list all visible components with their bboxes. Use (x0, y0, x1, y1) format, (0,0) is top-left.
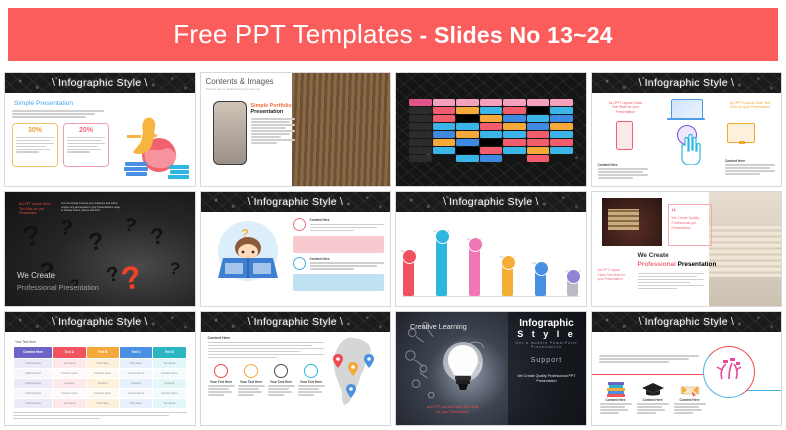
slide-12-icon-col-1: Content Here (600, 382, 632, 415)
slash-left-icon: \ (636, 77, 645, 89)
slide-thumbnail-12[interactable]: \ Infographic Style \ We Create Quality … (591, 311, 783, 426)
slash-right-icon: \ (728, 316, 737, 328)
slide-5-headline-2: Professional Presentation (17, 283, 99, 292)
smiley-icon (244, 364, 258, 378)
slide-thumbnail-grid: \ Infographic Style \ Simple Presentatio… (4, 72, 782, 426)
slash-left-icon: \ (245, 316, 254, 328)
map-pin-icon (364, 354, 374, 368)
monitor-icon (727, 123, 755, 143)
image-icon (304, 364, 318, 378)
table-row: Add Content Text Here Text Here Text Her… (14, 399, 186, 408)
cell: Content (120, 379, 152, 388)
stop-icon (214, 364, 228, 378)
table-header-3: Text B (87, 347, 119, 358)
cell: Text Here (53, 359, 85, 368)
slide-3-canvas: Infographic Style (396, 73, 586, 186)
cell: Content Here (53, 369, 85, 378)
page-banner: Free PPT Templates - Slides No 13~24 (8, 8, 778, 61)
slide-7-columns: Content Here Content Here Content Here C… (402, 216, 580, 295)
books-icon (600, 382, 632, 398)
slide-9-header-title: Infographic Style (58, 316, 141, 328)
slide-10-col-title-3: Your Text Here (268, 380, 295, 384)
cell: Text Here (120, 359, 152, 368)
slide-thumbnail-6[interactable]: \ Infographic Style \ ? (200, 191, 392, 306)
library-photo (292, 73, 390, 186)
cell: Add Content (14, 379, 52, 388)
watch-bar-4 (502, 260, 513, 296)
slide-4-header-title: Infographic Style (645, 77, 728, 89)
watch-bar-1 (403, 254, 414, 296)
exclamation-icon (274, 364, 288, 378)
slide-11-headline: Creative Learning (410, 322, 467, 331)
slide-2-canvas: Contents & Images This text can be repla… (201, 73, 391, 186)
slide-8-canvas: “ We Create Quality Professional ppt Pre… (592, 192, 782, 305)
slide-10-header: \ Infographic Style \ (201, 312, 391, 332)
slide-10-intro: Content Here (208, 336, 324, 360)
slide-12-ring (703, 346, 755, 398)
slide-7-col-5: Content Here (534, 262, 547, 295)
watch-bar-5 (535, 266, 546, 296)
slide-10-canvas: \ Infographic Style \ Content Here Your … (201, 312, 391, 425)
slide-9-body: Your Text Here Content Here Text A Text … (5, 332, 195, 425)
person-on-books-photo (709, 192, 781, 305)
target-icon (293, 257, 306, 270)
slide-10-col-title-2: Your Text Here (238, 380, 265, 384)
slide-thumbnail-1[interactable]: \ Infographic Style \ Simple Presentatio… (4, 72, 196, 187)
graduation-cap-icon (637, 382, 669, 398)
slide-5-canvas: ? ? ? ? ? ? ? ? ? ? ALLPPT Layout Clean … (5, 192, 195, 305)
banner-title-sub: Slides No 13~24 (434, 22, 613, 48)
slash-right-icon: \ (337, 316, 346, 328)
slide-10-header-title: Infographic Style (254, 316, 337, 328)
stat-box-1: 30% (12, 123, 58, 167)
slide-7-col-6: Content Here (566, 270, 579, 295)
slide-9-header: \ Infographic Style \ (5, 312, 195, 332)
slide-12-icon-title-1: Content Here (600, 398, 632, 402)
slide-6-item-title-1: Content Here (310, 218, 385, 222)
stat-caption-1 (16, 137, 54, 154)
watch-face-icon-1 (402, 249, 417, 264)
child-reading-book-illustration: ? (211, 218, 285, 284)
diploma-icon (674, 382, 706, 398)
smartphone-icon (616, 121, 633, 150)
slide-2-callout: Simple Portfolio Presentation (251, 103, 295, 145)
svg-text:?: ? (20, 219, 44, 254)
slide-6-item-1: Content Here (293, 218, 385, 232)
cell: Text Here (120, 399, 152, 408)
slide-12-icons: Content Here Content Here (600, 382, 706, 415)
laptop-base-icon (667, 118, 705, 120)
page-root: Free PPT Templates - Slides No 13~24 \ I… (0, 0, 786, 430)
slide-11-red-note: ALLPPT Layout Clean Text Slide for your … (426, 405, 480, 415)
slide-10-col-title-1: Your Text Here (208, 380, 235, 384)
slash-right-icon: \ (141, 316, 150, 328)
watch-face-icon-4 (501, 255, 516, 270)
slide-10-col-title-4: Your Text Here (298, 380, 325, 384)
slide-5-red-note: ALLPPT Layout Clean Text Slide for your … (19, 202, 53, 215)
slide-thumbnail-5[interactable]: ? ? ? ? ? ? ? ? ? ? ALLPPT Layout Clean … (4, 191, 196, 306)
table-row: Add Content Content Here Content Here Co… (14, 389, 186, 398)
slide-thumbnail-4[interactable]: \ Infographic Style \ ALLPPT Layout Clea… (591, 72, 783, 187)
slide-9-caption: Your Text Here (15, 340, 187, 344)
slide-12-icon-title-3: Content Here (674, 398, 706, 402)
slide-11-panel-title-1: Infographic (508, 318, 586, 329)
cell: Add Content (14, 359, 52, 368)
graduates-celebrating-icon (704, 347, 754, 397)
slide-5-body: You can simply impress your audience and… (61, 202, 123, 212)
slash-left-icon: \ (49, 316, 58, 328)
stat-box-2: 20% (63, 123, 109, 167)
slash-left-icon: \ (49, 77, 58, 89)
slide-10-col-2: Your Text Here (238, 364, 265, 397)
banner-title: Free PPT Templates - Slides No 13~24 (173, 19, 612, 50)
slide-12-header: \ Infographic Style \ (592, 312, 782, 332)
slide-12-header-title: Infographic Style (645, 316, 728, 328)
cell: Text Here (87, 399, 119, 408)
cell: Content Here (153, 369, 185, 378)
slide-10-col-4: Your Text Here (298, 364, 325, 397)
slide-4-canvas: \ Infographic Style \ ALLPPT Layout Clea… (592, 73, 782, 186)
quote-mark-icon: “ (672, 208, 708, 216)
slide-3-timetable (409, 99, 573, 162)
slide-11-panel-sub: Get a modern PowerPoint Presentation (508, 341, 586, 349)
slash-right-icon: \ (141, 77, 150, 89)
watch-face-icon-6 (566, 269, 581, 284)
slide-4-content-1: Content Here (598, 163, 648, 180)
slide-11-panel-body-title: We Create Quality Professional PPT Prese… (508, 374, 586, 384)
slide-12-body (599, 354, 699, 364)
slide-1-header: \ Infographic Style \ (5, 73, 195, 93)
slide-6-header-title: Infographic Style (254, 196, 337, 208)
slide-12-icon-title-2: Content Here (637, 398, 669, 402)
slide-7-col-1: Content Here (402, 250, 415, 295)
slide-7-col-2: Content Here (435, 230, 448, 295)
stat-value-2: 20% (67, 127, 105, 134)
watch-face-icon-5 (534, 261, 549, 276)
laptop-icon (671, 99, 703, 120)
cell: Text Here (53, 399, 85, 408)
svg-text:?: ? (58, 216, 74, 241)
cell: Content (153, 379, 185, 388)
cell: Add Content (14, 389, 52, 398)
slide-thumbnail-10[interactable]: \ Infographic Style \ Content Here Your … (200, 311, 392, 426)
slide-7-axis (402, 296, 580, 297)
slide-8-headline-rest: Presentation (676, 261, 717, 268)
slide-8-headline-2: Professional Presentation (638, 261, 717, 268)
slide-12-canvas: \ Infographic Style \ We Create Quality … (592, 312, 782, 425)
slide-12-red-line (592, 374, 712, 376)
cell: Content Here (87, 369, 119, 378)
hand-cursor-icon (677, 133, 703, 165)
slide-10-col-3: Your Text Here (268, 364, 295, 397)
cell: Content Here (120, 369, 152, 378)
slide-5-headline-1: We Create (17, 271, 55, 280)
svg-text:?: ? (87, 228, 105, 256)
cell: Content Here (153, 389, 185, 398)
cell: Add Content (14, 399, 52, 408)
watch-face-icon-3 (468, 237, 483, 252)
slide-7-header: \ Infographic Style \ (396, 192, 586, 212)
slide-2-callout-black: Presentation (251, 109, 295, 115)
phone-mockup (213, 101, 247, 165)
slide-8-headline-1: We Create (638, 252, 669, 259)
slide-7-header-title: Infographic Style (449, 196, 532, 208)
slide-thumbnail-9[interactable]: \ Infographic Style \ Your Text Here Con… (4, 311, 196, 426)
table-row: Add Content Content Content Content Cont… (14, 379, 186, 388)
cell: Content Here (53, 389, 85, 398)
slide-thumbnail-2[interactable]: Contents & Images This text can be repla… (200, 72, 392, 187)
table-header-1: Content Here (14, 347, 52, 358)
cell: Add Content (14, 369, 52, 378)
slide-4-header: \ Infographic Style \ (592, 73, 782, 93)
slash-left-icon: \ (245, 196, 254, 208)
banner-title-main: Free PPT Templates (173, 19, 413, 49)
slide-10-col-1: Your Text Here (208, 364, 235, 397)
slide-6-canvas: \ Infographic Style \ ? (201, 192, 391, 305)
slide-11-panel-title-2: S t y l e (508, 329, 586, 339)
slide-10-columns: Your Text Here Your Text Here Your Text … (208, 364, 326, 397)
watch-bar-2 (436, 234, 447, 296)
lightbulb-icon (442, 342, 484, 394)
stat-caption-2 (67, 137, 105, 154)
table-header-5: Text D (153, 347, 185, 358)
slash-right-icon: \ (728, 77, 737, 89)
cell: Text Here (87, 359, 119, 368)
stat-value-1: 30% (16, 127, 54, 134)
cell: Content (87, 379, 119, 388)
slide-1-canvas: \ Infographic Style \ Simple Presentatio… (5, 73, 195, 186)
slide-8-left-note: ALLPPT Layout Clean Text Slide for your … (598, 268, 628, 281)
slide-1-title: Simple Presentation (14, 100, 188, 107)
svg-text:?: ? (118, 259, 144, 298)
table-header-2: Text A (53, 347, 85, 358)
slash-right-icon: \ (337, 196, 346, 208)
cell: Text Here (153, 399, 185, 408)
slide-thumbnail-3[interactable]: Infographic Style (395, 72, 587, 187)
svg-text:?: ? (148, 222, 166, 250)
slide-6-header: \ Infographic Style \ (201, 192, 391, 212)
cell: Content Here (120, 389, 152, 398)
watch-bar-6 (567, 274, 578, 296)
table-header-4: Text C (120, 347, 152, 358)
slide-11-panel: Infographic S t y l e Get a modern Power… (508, 312, 586, 425)
table-header-row: Content Here Text A Text B Text C Text D (14, 347, 186, 358)
slide-thumbnail-11[interactable]: Creative Learning ALLPPT Layout Clean Te… (395, 311, 587, 426)
slide-8-quote-box: “ We Create Quality Professional ppt Pre… (668, 204, 712, 246)
watch-bar-3 (469, 242, 480, 296)
cell: Text Here (153, 359, 185, 368)
slide-11-panel-support: Support (508, 357, 586, 364)
slide-1-subtitle (12, 110, 104, 118)
slide-11-canvas: Creative Learning ALLPPT Layout Clean Te… (396, 312, 586, 425)
slide-1-header-title: Infographic Style (58, 77, 141, 89)
slide-12-icon-col-2: Content Here (637, 382, 669, 415)
slide-8-headline-accent: Professional (638, 261, 676, 268)
cell: Content Here (87, 389, 119, 398)
south-america-map (322, 336, 384, 408)
slide-thumbnail-8[interactable]: “ We Create Quality Professional ppt Pre… (591, 191, 783, 306)
slide-8-quote-text: We Create Quality Professional ppt Prese… (672, 216, 708, 230)
slide-6-item-title-2: Content Here (310, 257, 385, 261)
svg-text:?: ? (122, 215, 138, 238)
slide-4-content-title-1: Content Here (598, 163, 648, 167)
svg-text:?: ? (168, 259, 182, 280)
slide-6-content: Content Here Content Here (293, 218, 385, 295)
slash-left-icon: \ (440, 196, 449, 208)
monitor-stand-icon (739, 141, 745, 144)
stack-of-books-photo (602, 198, 662, 246)
slash-right-icon: \ (532, 196, 541, 208)
slide-6-bar-2 (293, 274, 385, 291)
slide-6-bar-1 (293, 236, 385, 253)
gear-icon (293, 218, 306, 231)
slide-4-label-left: ALLPPT Layout Clean Text Slide for your … (606, 101, 646, 114)
slide-12-icon-col-3: Content Here (674, 382, 706, 415)
slide-10-title: Content Here (208, 336, 324, 340)
slide-4-label-right: ALLPPT Layout Clean Text Slide for your … (729, 101, 771, 110)
slide-9-table: Content Here Text A Text B Text C Text D… (13, 346, 187, 409)
slash-left-icon: \ (636, 316, 645, 328)
watch-face-icon-2 (435, 229, 450, 244)
slide-4-content-2: Content Here (725, 159, 775, 176)
slide-7-col-3: Content Here (468, 238, 481, 295)
woman-reading-on-books-illustration (115, 107, 191, 183)
table-row: Add Content Text Here Text Here Text Her… (14, 359, 186, 368)
slide-thumbnail-7[interactable]: \ Infographic Style \ Content Here Conte… (395, 191, 587, 306)
slide-7-canvas: \ Infographic Style \ Content Here Conte… (396, 192, 586, 305)
table-row: Add Content Content Here Content Here Co… (14, 369, 186, 378)
slide-4-content-title-2: Content Here (725, 159, 775, 163)
slide-9-canvas: \ Infographic Style \ Your Text Here Con… (5, 312, 195, 425)
slide-2-body (251, 118, 295, 143)
slide-7-col-4: Content Here (501, 256, 514, 295)
slide-8-body (638, 271, 704, 290)
slide-9-note (13, 412, 187, 420)
slide-6-item-2: Content Here (293, 257, 385, 271)
cell: Content (53, 379, 85, 388)
banner-title-sep: - (413, 22, 434, 48)
